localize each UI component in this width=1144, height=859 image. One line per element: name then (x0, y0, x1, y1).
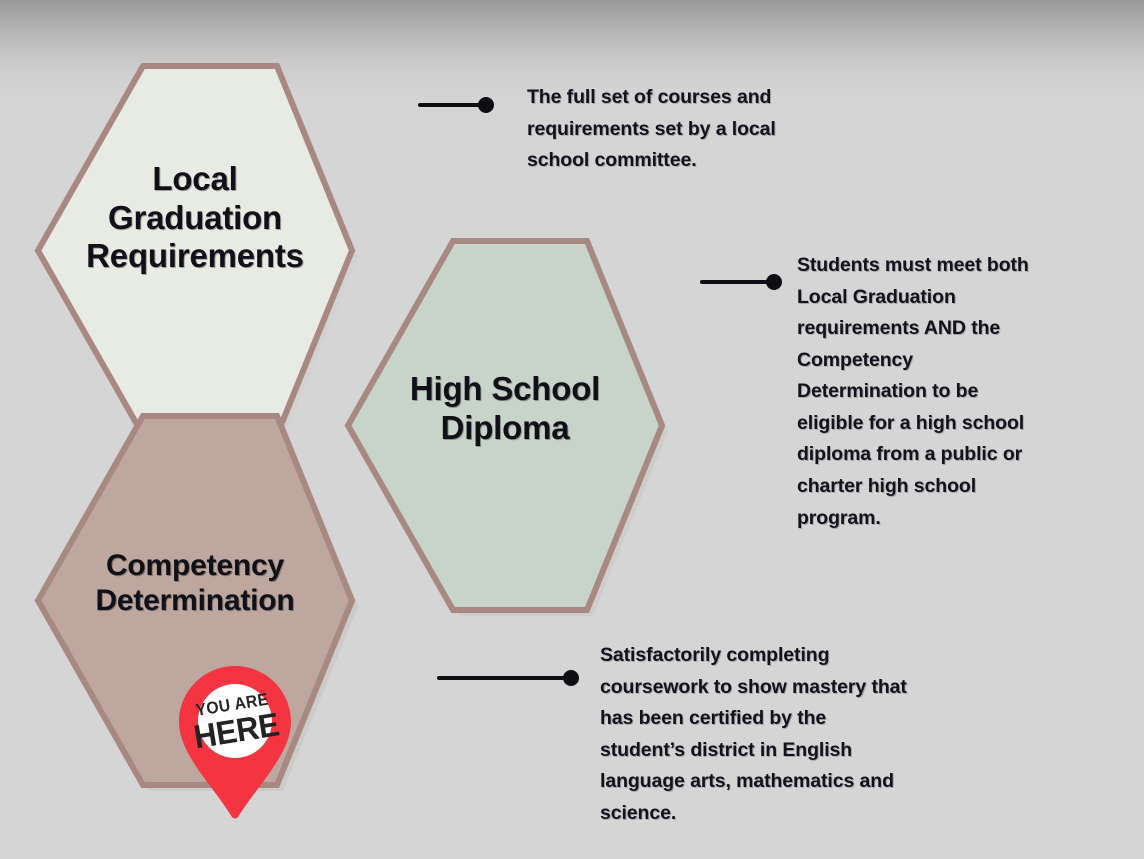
callout-high-school-diploma: Students must meet both Local Graduation… (797, 250, 1127, 534)
you-are-here-pin-icon[interactable]: YOU ARE HERE (179, 666, 291, 820)
connector-dot (766, 274, 782, 290)
connector-line (418, 103, 480, 107)
callout-local-graduation-requirements: The full set of courses and requirements… (527, 82, 887, 177)
infographic-canvas: Local Graduation Requirements Competency… (0, 0, 1144, 859)
connector-local-graduation (418, 95, 494, 115)
connector-line (437, 676, 565, 680)
connector-line (700, 280, 768, 284)
callout-competency-determination: Satisfactorily completing coursework to … (600, 640, 1030, 829)
connector-dot (563, 670, 579, 686)
connector-competency-determination (437, 668, 579, 688)
hexagon-shape-cream (30, 58, 360, 443)
hexagon-high-school-diploma[interactable]: High School Diploma (340, 233, 670, 618)
connector-high-school-diploma (700, 272, 782, 292)
map-pin-shape (179, 666, 291, 820)
hexagon-local-graduation-requirements[interactable]: Local Graduation Requirements (30, 58, 360, 443)
hexagon-shape-green (340, 233, 670, 618)
connector-dot (478, 97, 494, 113)
